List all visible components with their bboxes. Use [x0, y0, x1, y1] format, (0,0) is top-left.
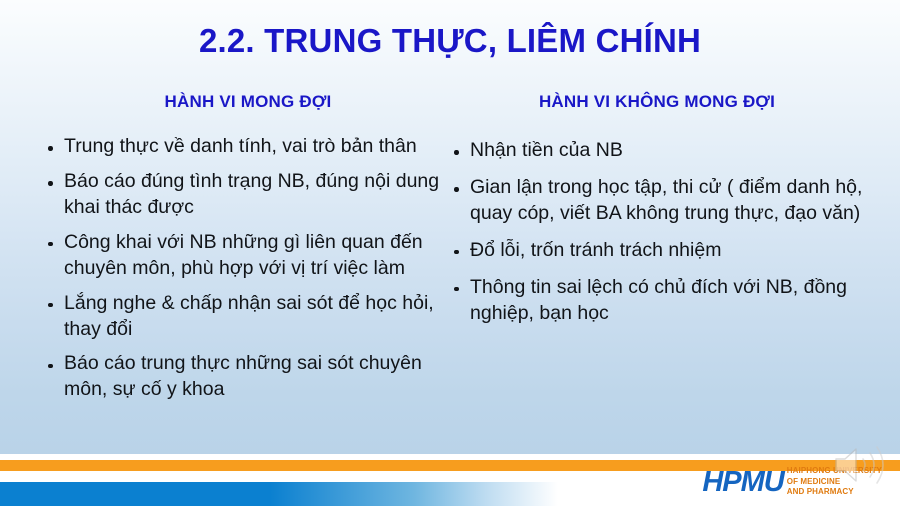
bullet-dot-icon	[48, 181, 53, 186]
logo-wordmark: HPMU	[702, 468, 783, 497]
list-item-text: Thông tin sai lệch có chủ đích với NB, đ…	[470, 276, 847, 324]
list-item: Gian lận trong học tập, thi cử ( điểm da…	[452, 175, 872, 227]
list-item: Trung thực về danh tính, vai trò bản thâ…	[46, 134, 456, 160]
slide-footer: HPMU HAIPHONG UNIVERSITY OF MEDICINE AND…	[0, 454, 900, 506]
slide-canvas: 2.2. TRUNG THỰC, LIÊM CHÍNH HÀNH VI MONG…	[0, 0, 900, 506]
list-item-text: Lắng nghe & chấp nhận sai sót để học hỏi…	[64, 292, 434, 340]
column-header-expected: HÀNH VI MONG ĐỢI	[46, 92, 456, 112]
bullet-dot-icon	[48, 146, 53, 151]
speaker-audio-icon	[830, 442, 892, 488]
list-item: Báo cáo trung thực những sai sót chuyên …	[46, 351, 456, 403]
list-item-text: Công khai với NB những gì liên quan đến …	[64, 231, 423, 279]
column-expected-behavior: HÀNH VI MONG ĐỢI Trung thực về danh tính…	[46, 92, 456, 412]
list-item: Đổ lỗi, trốn tránh trách nhiệm	[452, 238, 872, 264]
list-item: Công khai với NB những gì liên quan đến …	[46, 230, 456, 282]
page-title: 2.2. TRUNG THỰC, LIÊM CHÍNH	[0, 22, 900, 60]
list-item-text: Trung thực về danh tính, vai trò bản thâ…	[64, 135, 417, 157]
bullet-dot-icon	[48, 303, 53, 308]
content-columns: HÀNH VI MONG ĐỢI Trung thực về danh tính…	[0, 92, 900, 442]
list-item: Thông tin sai lệch có chủ đích với NB, đ…	[452, 275, 872, 327]
list-item-text: Đổ lỗi, trốn tránh trách nhiệm	[470, 239, 721, 261]
bullet-dot-icon	[48, 242, 53, 247]
list-item: Báo cáo đúng tình trạng NB, đúng nội dun…	[46, 169, 456, 221]
list-item-text: Gian lận trong học tập, thi cử ( điểm da…	[470, 176, 862, 224]
list-item-text: Báo cáo đúng tình trạng NB, đúng nội dun…	[64, 170, 439, 218]
list-item: Lắng nghe & chấp nhận sai sót để học hỏi…	[46, 291, 456, 343]
column-unexpected-behavior: HÀNH VI KHÔNG MONG ĐỢI Nhận tiền của NB …	[452, 92, 872, 338]
bullet-list-expected: Trung thực về danh tính, vai trò bản thâ…	[46, 134, 456, 403]
column-header-unexpected: HÀNH VI KHÔNG MONG ĐỢI	[452, 92, 872, 112]
bullet-dot-icon	[454, 287, 459, 292]
bullet-dot-icon	[454, 250, 459, 255]
bullet-dot-icon	[454, 150, 459, 155]
bullet-dot-icon	[454, 187, 459, 192]
list-item: Nhận tiền của NB	[452, 138, 872, 164]
list-item-text: Báo cáo trung thực những sai sót chuyên …	[64, 352, 422, 400]
logo-subtitle-line3: AND PHARMACY	[787, 487, 854, 496]
bullet-list-unexpected: Nhận tiền của NB Gian lận trong học tập,…	[452, 138, 872, 327]
list-item-text: Nhận tiền của NB	[470, 139, 623, 161]
bullet-dot-icon	[48, 364, 53, 369]
